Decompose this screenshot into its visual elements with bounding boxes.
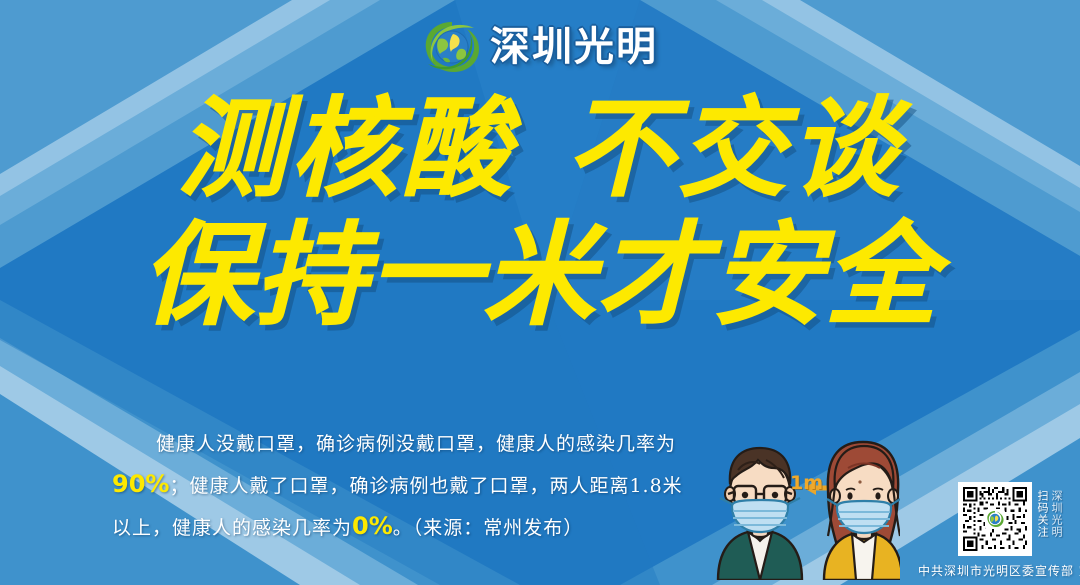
body-paragraph: 健康人没戴口罩，确诊病例没戴口罩，健康人的感染几率为 90%；健康人戴了口罩，确… — [112, 424, 712, 548]
stat-90-percent: 90% — [112, 470, 169, 498]
headline-line-2: 保持一米才安全 — [0, 220, 1080, 332]
headline-line-1-part-1: 测核酸 — [178, 87, 514, 212]
globe-logo-icon — [985, 509, 1005, 529]
body-line-2: 90%；健康人戴了口罩，确诊病例也戴了口罩，两人距离1.8米 — [112, 464, 712, 506]
brand-name: 深圳光明 — [490, 27, 658, 67]
body-text-3: 以上，健康人的感染几率为 — [112, 517, 352, 539]
man-with-mask — [718, 448, 802, 580]
headline-block: 测核酸不交谈 保持一米才安全 — [0, 96, 1080, 332]
body-text-4: 。（来源：常州发布） — [393, 517, 584, 539]
body-text-1: 健康人没戴口罩，确诊病例没戴口罩，健康人的感染几率为 — [156, 433, 676, 455]
brand-logo: 深圳光明 — [0, 16, 1080, 78]
globe-logo-icon — [422, 18, 482, 76]
woman-with-mask — [824, 442, 900, 580]
headline-line-1: 测核酸不交谈 — [0, 96, 1080, 204]
headline-line-1-part-2: 不交谈 — [566, 87, 902, 212]
poster-canvas: 深圳光明 测核酸不交谈 保持一米才安全 健康人没戴口罩，确诊病例没戴口罩，健康人… — [0, 0, 1080, 585]
qr-caption-brand: 深圳光明 — [1050, 490, 1063, 538]
footer-organization: 中共深圳市光明区委宣传部 宣 — [918, 562, 1080, 579]
body-line-3: 以上，健康人的感染几率为0%。（来源：常州发布） — [112, 506, 712, 548]
distance-label: 1m — [790, 472, 823, 494]
qr-caption: 扫码关注 深圳光明 — [1036, 482, 1063, 538]
body-line-1: 健康人没戴口罩，确诊病例没戴口罩，健康人的感染几率为 — [112, 424, 712, 464]
qr-caption-scan: 扫码关注 — [1036, 490, 1049, 538]
qr-block: 扫码关注 深圳光明 — [958, 482, 1063, 556]
stat-0-percent: 0% — [352, 512, 393, 540]
qr-code-icon[interactable] — [958, 482, 1032, 556]
body-text-2: ；健康人戴了口罩，确诊病例也戴了口罩，两人距离1.8米 — [169, 475, 682, 497]
social-distancing-illustration — [700, 408, 900, 580]
